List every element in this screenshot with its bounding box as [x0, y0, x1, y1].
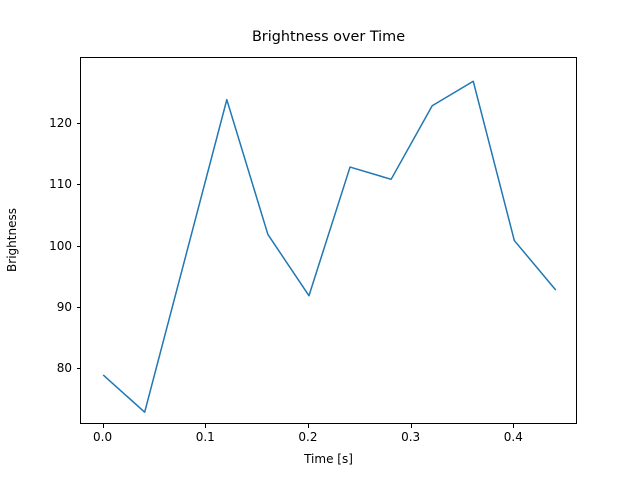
y-tick-label: 100: [12, 239, 72, 253]
x-tick-mark: [513, 424, 514, 428]
x-tick-label: 0.1: [175, 430, 235, 444]
y-tick-label: 110: [12, 177, 72, 191]
x-tick-label: 0.2: [278, 430, 338, 444]
x-tick-label: 0.4: [483, 430, 543, 444]
x-tick-mark: [308, 424, 309, 428]
data-line-svg: [81, 58, 578, 425]
plot-area: [80, 57, 577, 424]
y-tick-mark: [77, 368, 81, 369]
y-tick-label: 80: [12, 361, 72, 375]
x-tick-mark: [103, 424, 104, 428]
chart-title: Brightness over Time: [80, 29, 577, 46]
y-tick-mark: [77, 307, 81, 308]
y-tick-mark: [77, 184, 81, 185]
y-tick-mark: [77, 246, 81, 247]
y-axis-label: Brightness: [5, 160, 19, 320]
y-tick-mark: [77, 123, 81, 124]
x-tick-label: 0.3: [381, 430, 441, 444]
chart-figure: Brightness over Time 0.00.10.20.30.4 809…: [0, 0, 640, 480]
y-tick-label: 90: [12, 300, 72, 314]
x-axis-label: Time [s]: [80, 452, 577, 466]
x-tick-mark: [411, 424, 412, 428]
y-tick-label: 120: [12, 116, 72, 130]
x-tick-label: 0.0: [73, 430, 133, 444]
brightness-line-series: [104, 81, 556, 412]
x-tick-mark: [205, 424, 206, 428]
